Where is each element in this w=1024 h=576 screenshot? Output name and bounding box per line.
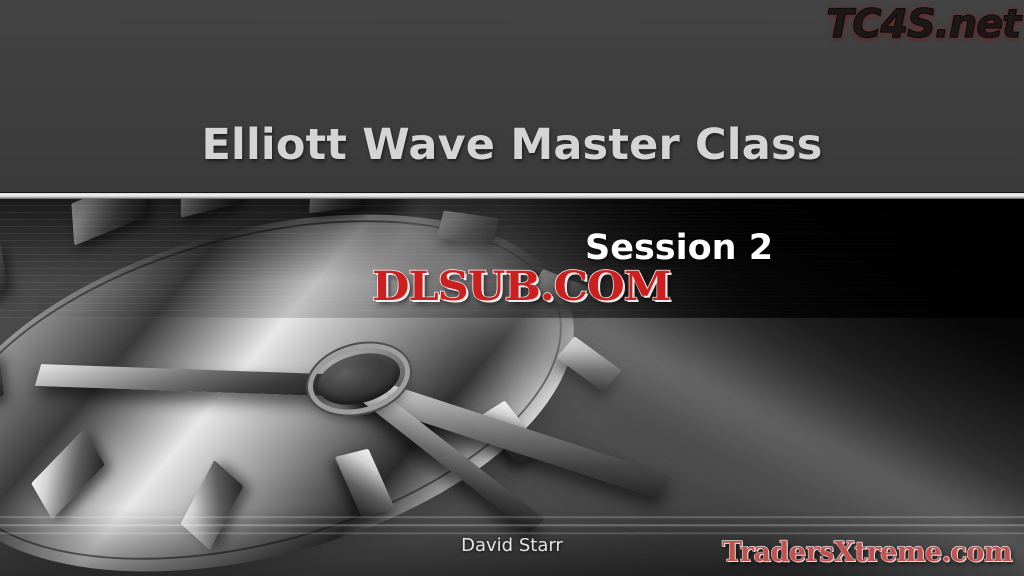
watermark-tradersxtreme: TradersXtreme.com bbox=[722, 537, 1012, 568]
page-title: Elliott Wave Master Class bbox=[0, 120, 1024, 170]
photo-vignette bbox=[0, 198, 1024, 576]
session-label: Session 2 bbox=[585, 228, 773, 268]
presentation-slide: Elliott Wave Master Class Session 2 Davi… bbox=[0, 0, 1024, 576]
clock-background-photo bbox=[0, 198, 1024, 576]
watermark-dlsub: DLSUB.COM bbox=[372, 263, 670, 310]
header-divider-line bbox=[0, 192, 1024, 199]
watermark-tc4s: TC4S.net bbox=[826, 2, 1020, 47]
